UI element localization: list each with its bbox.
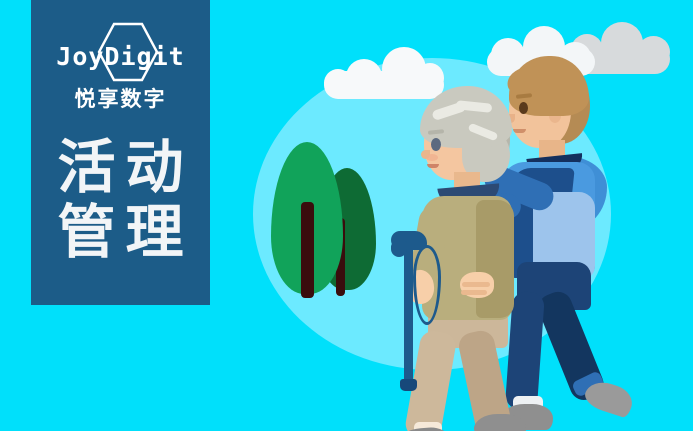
woman-cheek	[426, 154, 438, 161]
woman-shoe-back	[474, 414, 526, 431]
poster-canvas: JoyDigit 悦享数字 活动 管理	[0, 0, 693, 431]
page-title-line-2: 管理	[31, 200, 210, 265]
brand-logo-block: JoyDigit 悦享数字	[31, 26, 210, 113]
walking-cane-icon	[391, 231, 435, 391]
woman-eye	[431, 138, 441, 151]
brand-logo-chinese: 悦享数字	[31, 83, 210, 113]
title-panel: JoyDigit 悦享数字 活动 管理	[31, 0, 210, 305]
brand-logo-text: JoyDigit	[31, 26, 210, 69]
woman-finger-2	[461, 290, 487, 295]
cane-tip	[400, 379, 417, 391]
cane-grip-end	[391, 241, 407, 257]
page-title-line-1: 活动	[31, 135, 210, 200]
tree-front-trunk	[301, 202, 314, 298]
cane-shaft	[404, 247, 413, 385]
woman-sweater-shade	[476, 200, 514, 318]
page-title: 活动 管理	[31, 135, 210, 265]
woman-finger-1	[462, 282, 490, 287]
